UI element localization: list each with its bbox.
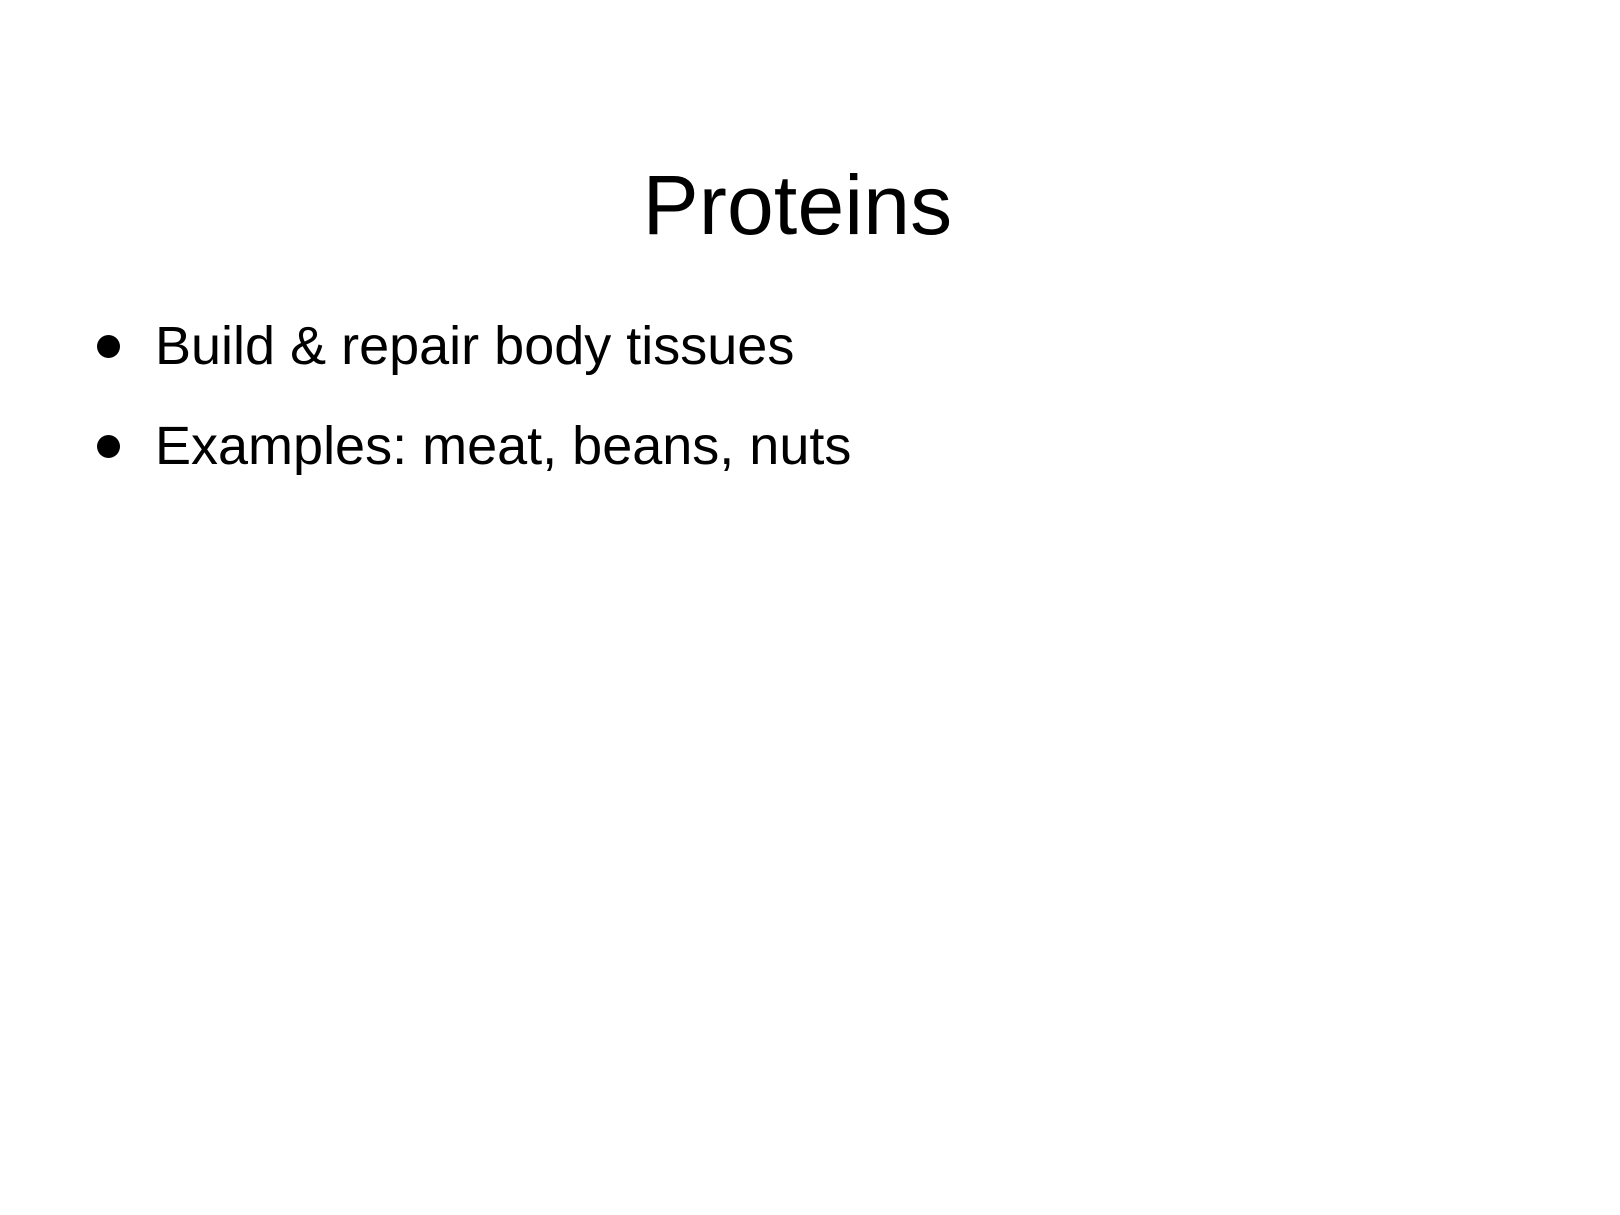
list-item: Build & repair body tissues <box>92 296 1532 396</box>
list-item-label: Examples: meat, beans, nuts <box>155 396 851 496</box>
list-item-label: Build & repair body tissues <box>155 296 794 396</box>
bullet-list: Build & repair body tissues Examples: me… <box>92 296 1532 496</box>
slide-canvas: Proteins Build & repair body tissues Exa… <box>0 0 1620 1215</box>
list-item: Examples: meat, beans, nuts <box>92 396 1532 496</box>
page-title: Proteins <box>0 153 1595 257</box>
bullet-dot-icon <box>97 435 120 458</box>
bullet-dot-icon <box>97 335 120 358</box>
